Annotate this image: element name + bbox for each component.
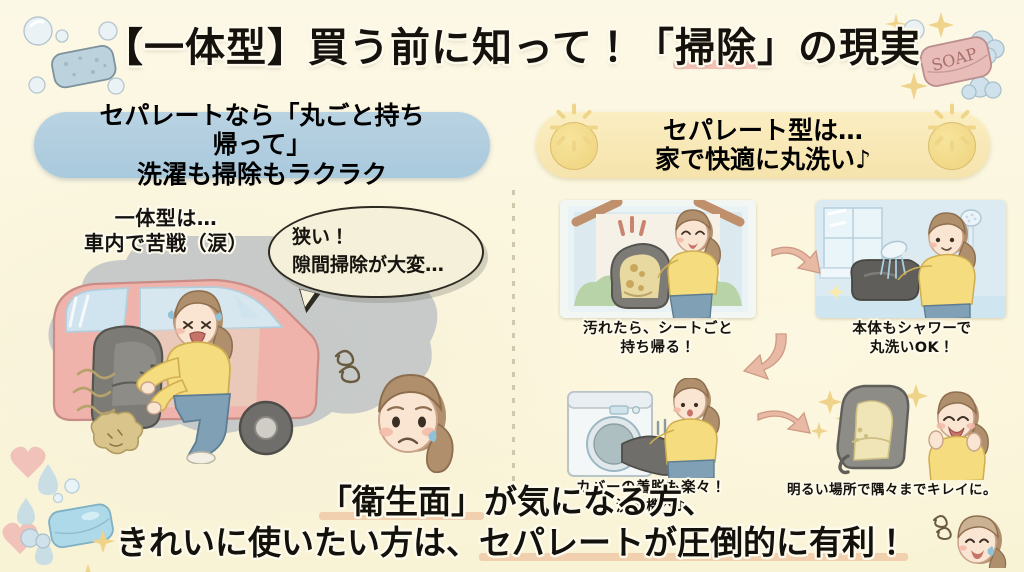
banner-left-line1: セパレートなら「丸ごと持ち帰って」: [94, 101, 430, 160]
car-interior-struggle-illustration: 車内でチャイルドシートを掃除して苦戦する女性のイラスト: [44, 268, 326, 464]
caption-take-home-line2: 持ち帰る！: [548, 339, 768, 358]
worried-face-illustration: 困った表情の女性の顔のイラスト: [330, 338, 480, 488]
speech-bubble-line2: 隙間掃除が大変…: [292, 252, 444, 280]
title-part2: 」の現実: [757, 25, 921, 71]
photo-washing-machine: [562, 378, 750, 478]
inline-type-label: 一体型は… 車内で苦戦（涙）: [56, 206, 276, 256]
conclusion-text: 「衛生面」が気になる方、 きれいに使いたい方は、セパレートが圧倒的に有利！: [0, 481, 1024, 564]
infographic-canvas: SOAP 【一体型】買う前に知って！「掃除」の現実 セパレートなら「丸ごと持ち帰…: [0, 0, 1024, 572]
speech-bubble: 狭い！ 隙間掃除が大変…: [268, 206, 484, 298]
speech-bubble-line1: 狭い！: [292, 224, 444, 252]
caption-take-home-line1: 汚れたら、シートごと: [548, 320, 768, 339]
inline-type-label-line2: 車内で苦戦（涙）: [56, 231, 276, 256]
caption-take-home: 汚れたら、シートごと 持ち帰る！: [548, 320, 768, 358]
photo-sparkling-clean: [812, 376, 1008, 480]
conclusion-line1-quote: 「衛生面」: [319, 482, 484, 521]
arrow-right-icon-1: [770, 240, 822, 284]
caption-shower-wash: 本体もシャワーで 丸洗いOK！: [806, 320, 1018, 358]
caption-shower-wash-line2: 丸洗いOK！: [806, 339, 1018, 358]
banner-left-line2: 洗濯も掃除もラクラク: [94, 160, 430, 190]
title-highlight: 掃除: [675, 25, 757, 71]
banner-right-line2: 家で快適に丸洗い♪: [655, 145, 871, 175]
sun-icon-right: [928, 122, 976, 170]
banner-right-line1: セパレート型は…: [655, 116, 871, 146]
caption-shower-wash-line1: 本体もシャワーで: [806, 320, 1018, 339]
conclusion-line2-a: きれいに使いたい方は、: [116, 523, 479, 562]
conclusion-line2-b: セパレートが圧倒的に有利！: [479, 523, 908, 562]
section-divider: [512, 190, 515, 490]
sun-icon-left: [550, 122, 598, 170]
banner-right: セパレート型は… 家で快適に丸洗い♪: [536, 112, 990, 178]
smiling-face-decoration: [930, 506, 1008, 568]
banner-left: セパレートなら「丸ごと持ち帰って」 洗濯も掃除もラクラク: [34, 112, 490, 178]
page-title: 【一体型】買う前に知って！「掃除」の現実: [0, 26, 1024, 71]
photo-shower-wash: [816, 200, 1006, 318]
conclusion-line1-rest: が気になる方、: [484, 482, 715, 521]
inline-type-label-line1: 一体型は…: [56, 206, 276, 231]
title-part1: 【一体型】買う前に知って！「: [103, 25, 675, 71]
arrow-right-icon-2: [756, 404, 812, 444]
photo-take-home: [560, 200, 756, 318]
